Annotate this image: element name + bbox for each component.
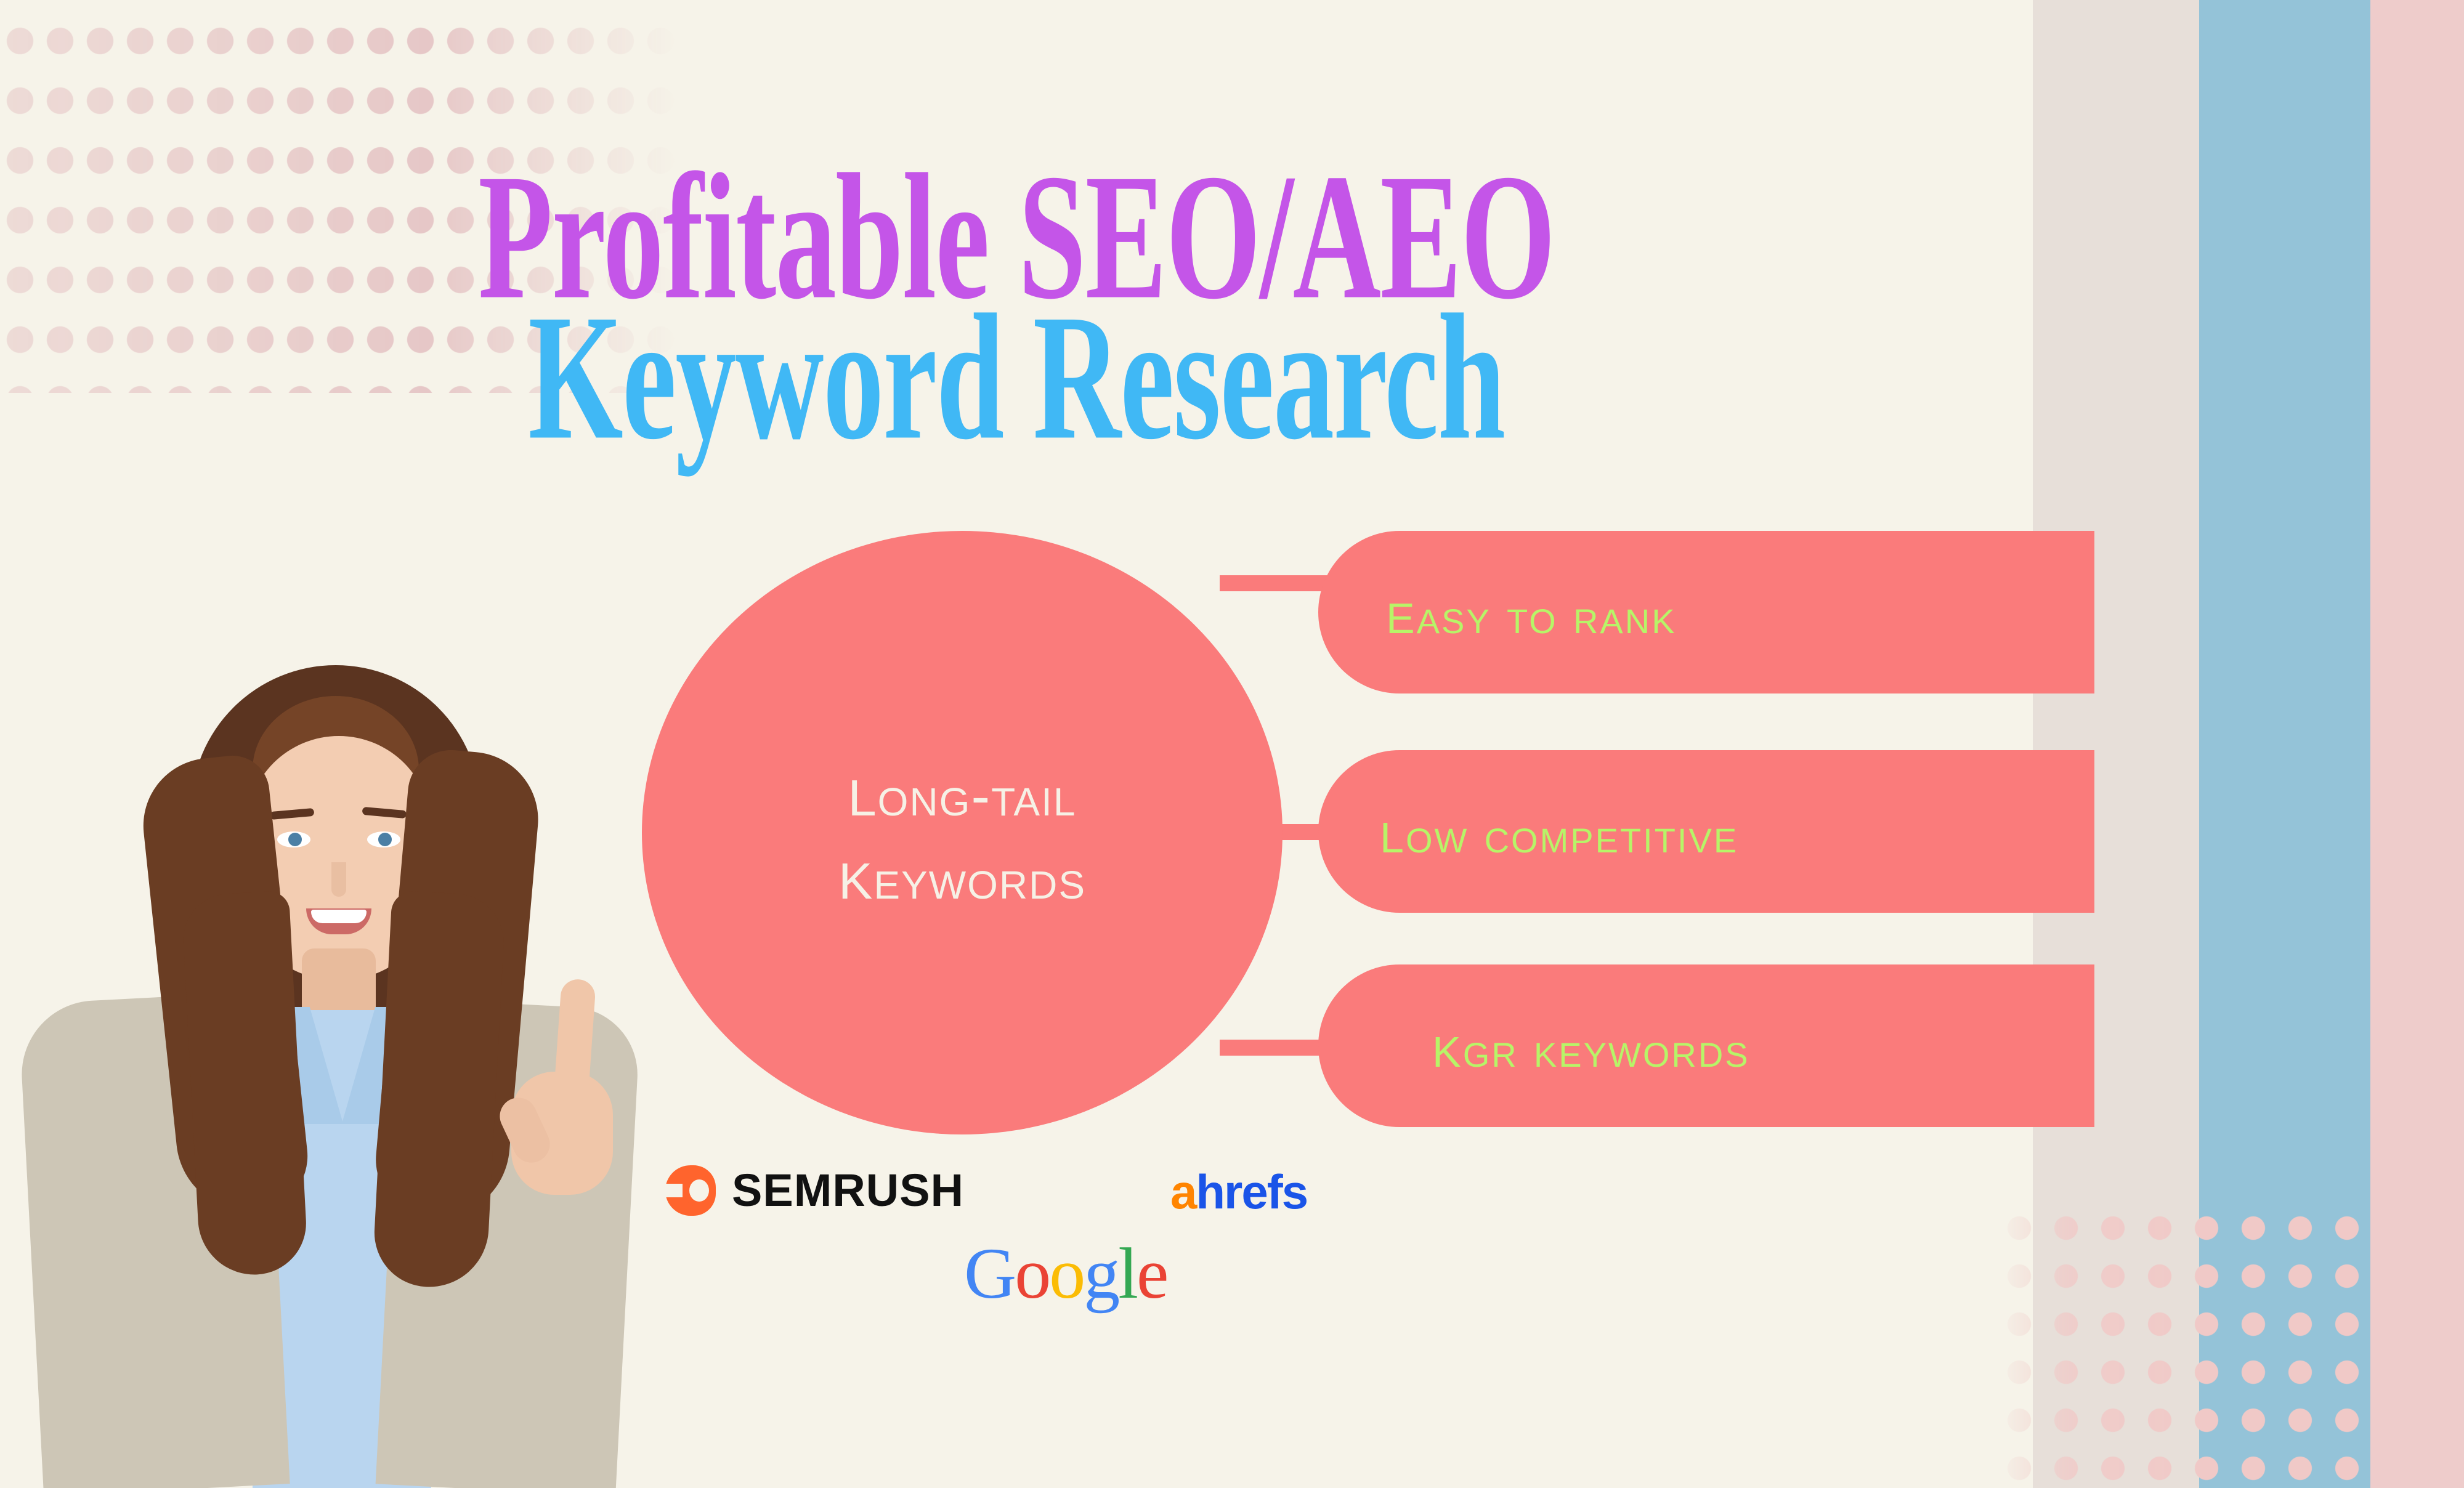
hair-front-left: [181, 891, 309, 1277]
presenter-photo: [6, 628, 634, 1488]
google-logo: Google: [964, 1232, 1167, 1316]
blue-stripe: [2199, 0, 2370, 1488]
branch-label-3: KGR Keywords: [1432, 1011, 1750, 1082]
iris-left: [288, 833, 302, 846]
semrush-logo: SEMRUSH: [665, 1164, 964, 1216]
mindmap-core-node[interactable]: LOng-tail Keywords: [642, 531, 1283, 1134]
mindmap-branch-kgr-keywords[interactable]: KGR Keywords: [1318, 964, 2094, 1127]
core-node-label-line1: LOng-tail: [838, 750, 1086, 833]
branch-label-2: LOw Competitive: [1380, 796, 1738, 867]
ahrefs-first-letter: a: [1170, 1165, 1196, 1219]
google-letter-o1: o: [1015, 1232, 1049, 1316]
hair-front-right: [371, 891, 506, 1290]
google-letter-o2: o: [1049, 1232, 1084, 1316]
ahrefs-logo: ahrefs: [1170, 1164, 1307, 1220]
teeth: [311, 910, 367, 923]
tool-logo-row: SEMRUSH ahrefs Google: [641, 1152, 1398, 1336]
semrush-icon: [665, 1165, 716, 1216]
pink-stripe: [2370, 0, 2464, 1488]
google-letter-g: G: [964, 1232, 1015, 1316]
google-letter-l: l: [1118, 1232, 1137, 1316]
ahrefs-wordmark: hrefs: [1196, 1165, 1307, 1219]
core-node-label: LOng-tail Keywords: [838, 750, 1086, 915]
core-node-label-line2: Keywords: [838, 833, 1086, 916]
connector-line-1: [1220, 575, 1337, 591]
nose: [331, 862, 346, 897]
poster-canvas: Profitable SEO/AEO Keyword Research LOng…: [0, 0, 2464, 1488]
branch-label-1: Easy To Rank: [1386, 577, 1677, 648]
google-letter-g2: g: [1084, 1232, 1118, 1316]
semrush-wordmark: SEMRUSH: [732, 1164, 964, 1216]
google-letter-e: e: [1137, 1232, 1167, 1316]
iris-right: [378, 833, 392, 846]
mindmap-branch-low-competitive[interactable]: LOw Competitive: [1318, 750, 2094, 913]
mindmap-branch-easy-to-rank[interactable]: Easy To Rank: [1318, 531, 2094, 693]
